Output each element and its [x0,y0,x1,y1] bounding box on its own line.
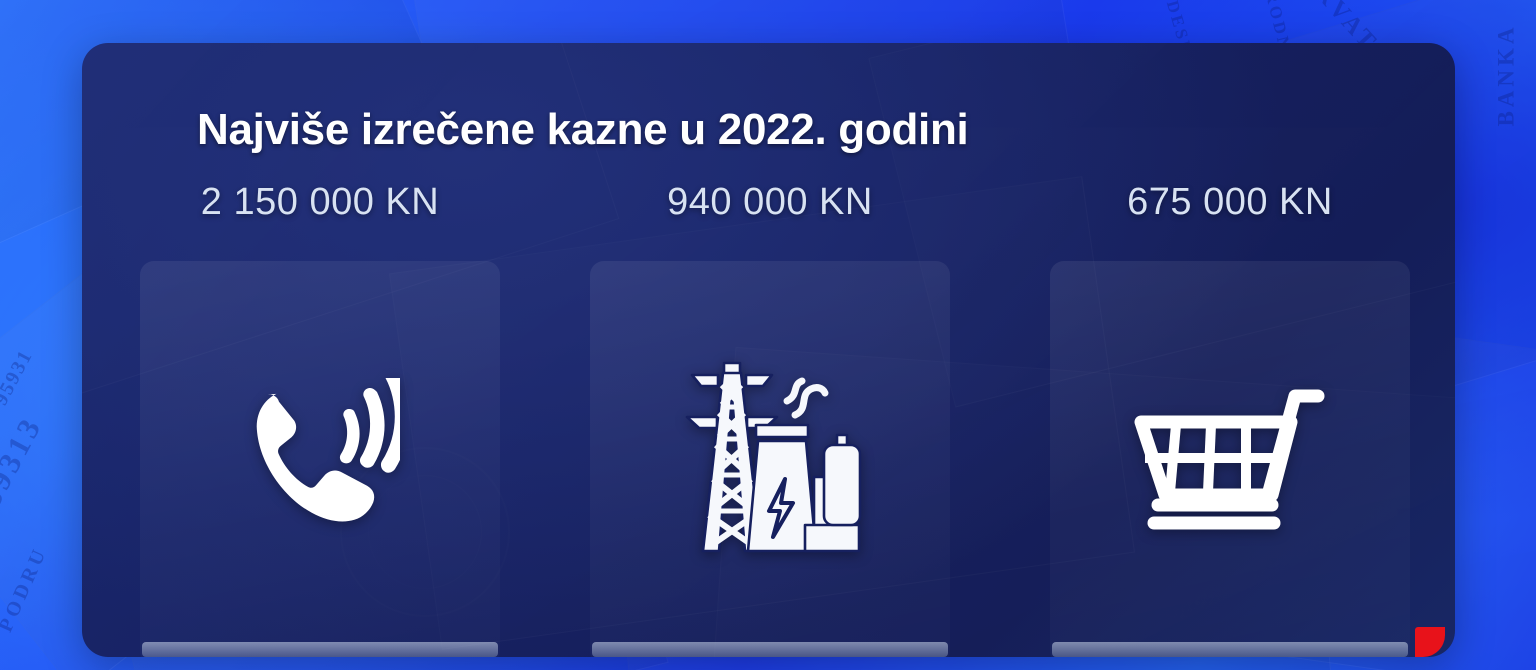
infographic-stage: 20 HRVATSKA 959313 95931 HRVAT BANKA A N… [0,0,1536,670]
tile-base-bar [142,642,498,657]
amount-value: 2 150 000 KN [110,183,530,221]
power-plant-icon [677,357,863,569]
stat-column-energy: 940 000 KN [560,183,980,657]
banknote-bank-watermark-right: BANKA [1494,23,1520,126]
amount-value: 675 000 KN [1020,183,1440,221]
content-panel: Najviše izrečene kazne u 2022. godini 2 … [82,43,1455,657]
icon-tile [590,261,950,657]
ringing-phone-icon [240,378,400,548]
icon-tile [1050,261,1410,657]
stat-column-retail: 675 000 KN [1020,183,1440,657]
stats-row: 2 150 000 KN [82,43,1455,657]
tile-base-bar [592,642,948,657]
stat-column-telecom: 2 150 000 KN [110,183,530,657]
icon-tile [140,261,500,657]
shopping-cart-icon [1132,383,1328,543]
tile-base-bar [1052,642,1408,657]
amount-value: 940 000 KN [560,183,980,221]
